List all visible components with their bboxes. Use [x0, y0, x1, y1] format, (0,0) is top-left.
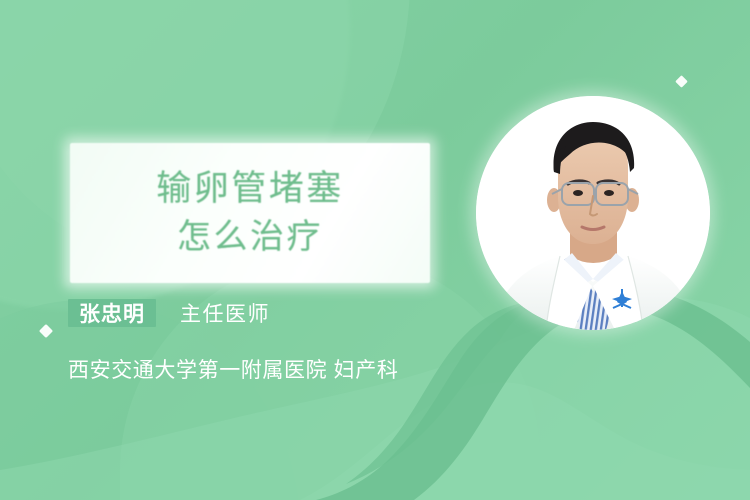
title-line-2: 怎么治疗 [177, 214, 323, 261]
doctor-portrait-illustration [476, 96, 710, 330]
diamond-decoration-icon [675, 75, 688, 88]
doctor-name-badge: 张忠明 [68, 299, 156, 327]
title-panel: 输卵管堵塞 怎么治疗 [70, 143, 430, 283]
doctor-meta: 张忠明 主任医师 西安交通大学第一附属医院 妇产科 [68, 298, 488, 384]
title-line-1: 输卵管堵塞 [156, 165, 344, 213]
doctor-name-row: 张忠明 主任医师 [68, 298, 488, 328]
doctor-portrait [476, 96, 710, 330]
doctor-hospital: 西安交通大学第一附属医院 妇产科 [68, 354, 488, 384]
doctor-title: 主任医师 [180, 298, 270, 328]
doctor-info-card: 输卵管堵塞 怎么治疗 张忠明 主任医师 西安交通大学第一附属医院 妇产科 [0, 0, 750, 500]
